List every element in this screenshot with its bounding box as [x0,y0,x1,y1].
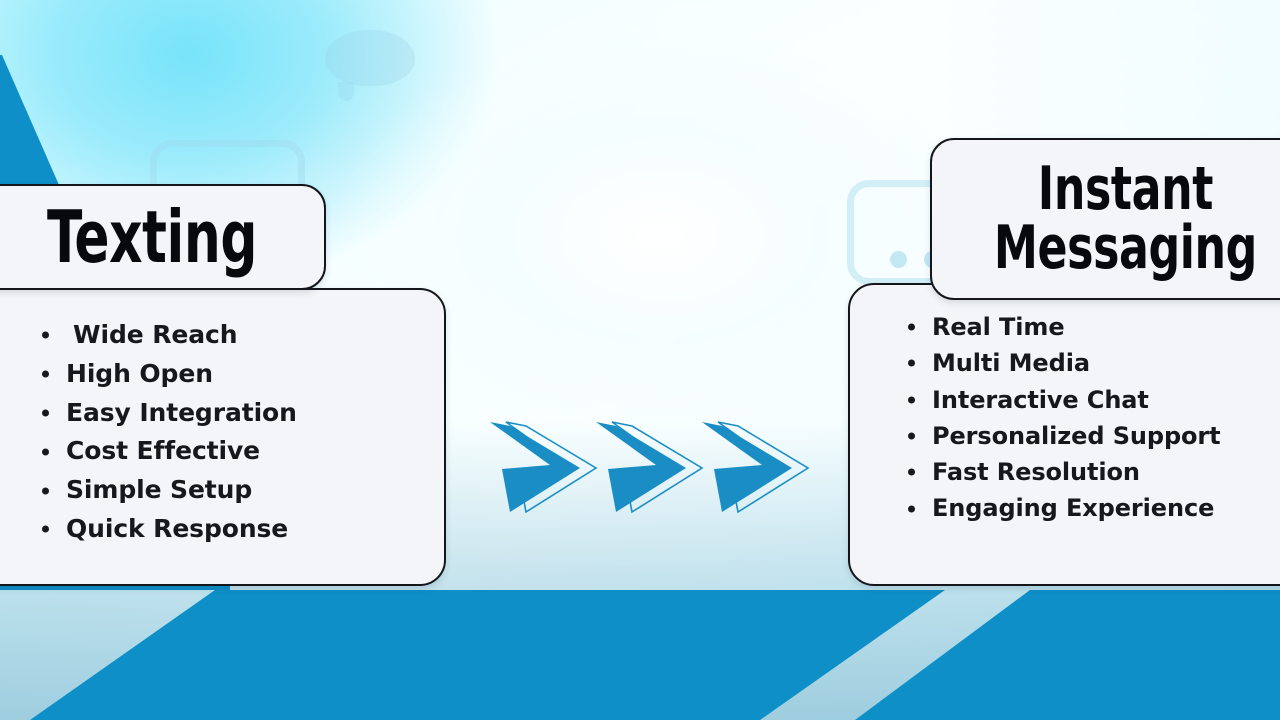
list-item: Cost Effective [40,432,424,471]
list-item: Personalized Support [906,418,1280,454]
list-item: Multi Media [906,345,1280,381]
slide-canvas: Wide Reach High Open Easy Integration Co… [0,0,1280,720]
left-panel-title: Texting [29,203,257,271]
right-panel-title-line2: Messaging [993,213,1256,283]
arrow-right-icon [700,418,816,516]
list-item: Simple Setup [40,471,424,510]
right-feature-list: Real Time Multi Media Interactive Chat P… [906,309,1280,527]
list-item: Real Time [906,309,1280,345]
list-item: Quick Response [40,510,424,549]
left-panel-title-card: Texting [0,184,326,290]
list-item: Interactive Chat [906,382,1280,418]
right-panel-title: Instant Messaging [993,160,1256,279]
list-item: High Open [40,355,424,394]
chat-bubble-icon [325,30,415,102]
list-item: Engaging Experience [906,490,1280,526]
arrow-right-icon [488,418,604,516]
right-panel-title-card: Instant Messaging [930,138,1280,300]
arrow-right-icon [594,418,710,516]
left-feature-list: Wide Reach High Open Easy Integration Co… [40,316,424,549]
list-item: Fast Resolution [906,454,1280,490]
list-item: Easy Integration [40,394,424,433]
left-panel-body-card: Wide Reach High Open Easy Integration Co… [0,288,446,586]
right-panel-body-card: Real Time Multi Media Interactive Chat P… [848,283,1280,586]
list-item: Wide Reach [40,316,424,355]
